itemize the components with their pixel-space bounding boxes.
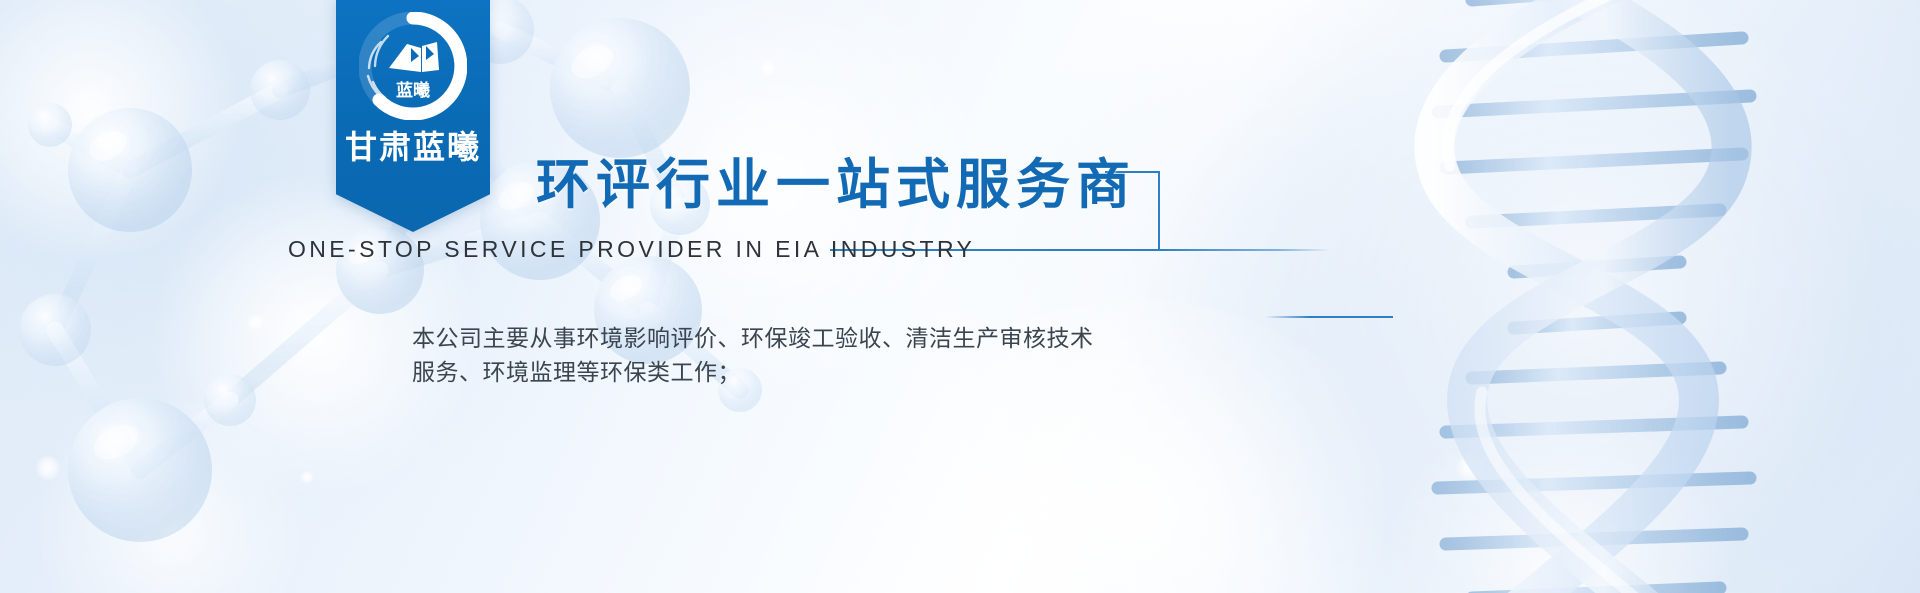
sparkle-dot — [1600, 520, 1620, 540]
description-paragraph: 本公司主要从事环境影响评价、环保竣工验收、清洁生产审核技术 服务、环境监理等环保… — [412, 322, 1212, 390]
sparkle-dot — [247, 313, 265, 331]
hero-banner: 蓝曦 甘肃蓝曦 环评行业一站式服务商 ONE-STOP SERVICE PROV… — [0, 0, 1920, 593]
light-bloom — [0, 0, 240, 260]
accent-line-lower-right — [1265, 316, 1393, 318]
logo-inner-text: 蓝曦 — [396, 80, 430, 101]
sparkle-dot — [1455, 452, 1485, 482]
brand-ribbon-badge[interactable]: 蓝曦 甘肃蓝曦 — [336, 0, 490, 232]
page-title: 环评行业一站式服务商 — [536, 140, 1136, 219]
sparkle-dot — [35, 455, 61, 481]
company-logo-icon: 蓝曦 — [359, 12, 467, 120]
ribbon-company-name: 甘肃蓝曦 — [336, 122, 490, 168]
accent-line-vertical — [1158, 172, 1160, 251]
light-bloom — [1380, 420, 1740, 593]
dna-helix-illustration — [1250, 0, 1920, 593]
description-line: 服务、环境监理等环保类工作； — [412, 356, 1212, 390]
light-bloom — [40, 400, 300, 593]
accent-line-right — [1160, 249, 1330, 251]
sparkle-dot — [300, 470, 314, 484]
sparkle-dot — [760, 60, 776, 76]
page-subtitle: ONE-STOP SERVICE PROVIDER IN EIA INDUSTR… — [288, 236, 975, 263]
description-line: 本公司主要从事环境影响评价、环保竣工验收、清洁生产审核技术 — [412, 322, 1212, 356]
